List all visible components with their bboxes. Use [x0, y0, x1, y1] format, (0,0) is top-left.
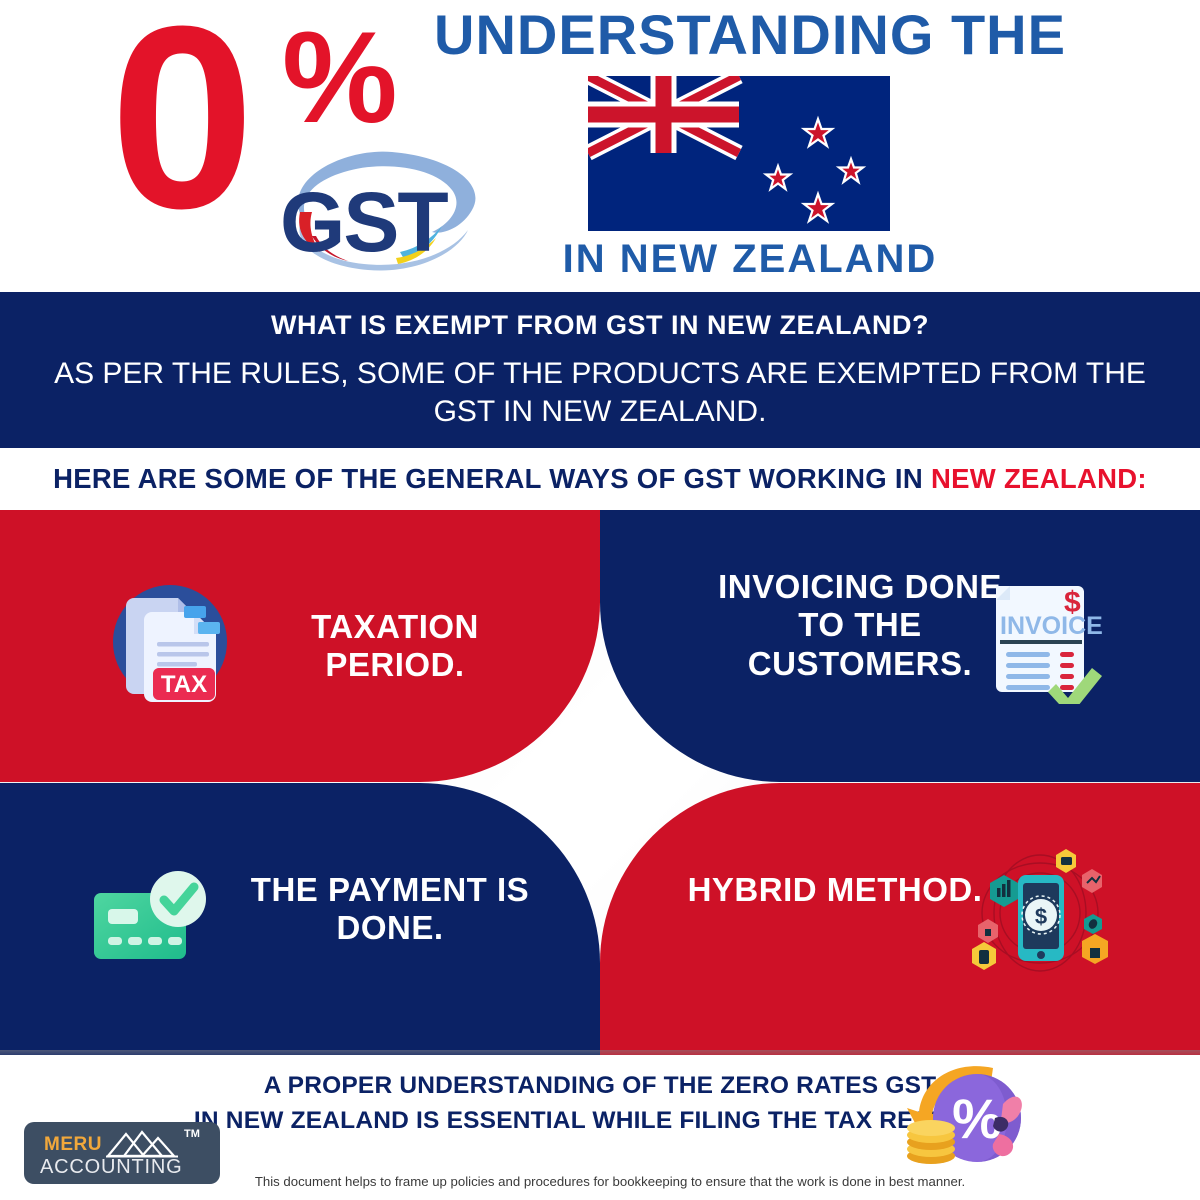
- page-title-line1: UNDERSTANDING THE: [400, 6, 1100, 65]
- flag-svg: [588, 76, 890, 231]
- quadrant-label-hybrid: HYBRID METHOD.: [685, 871, 985, 909]
- mountain-icon: [106, 1130, 178, 1158]
- invoice-check-icon: INVOICE $: [982, 572, 1112, 704]
- quadrant-payment-done[interactable]: THE PAYMENT IS DONE.: [0, 783, 600, 1055]
- quadrant-grid: TAX TAXATION PERIOD. INVOICING DONE TO T…: [0, 510, 1200, 1055]
- exempt-banner: WHAT IS EXEMPT FROM GST IN NEW ZEALAND? …: [0, 292, 1200, 448]
- quadrant-label-payment: THE PAYMENT IS DONE.: [240, 871, 540, 948]
- svg-text:%: %: [952, 1087, 1002, 1150]
- svg-text:TAX: TAX: [161, 671, 207, 698]
- header-section: 0 % GST UNDERSTANDING THE: [0, 0, 1200, 292]
- subhead-section: HERE ARE SOME OF THE GENERAL WAYS OF GST…: [0, 448, 1200, 510]
- banner-subtext: AS PER THE RULES, SOME OF THE PRODUCTS A…: [0, 355, 1200, 432]
- subhead-text: HERE ARE SOME OF THE GENERAL WAYS OF GST…: [53, 463, 1147, 495]
- footer-fineprint: This document helps to frame up policies…: [250, 1174, 970, 1189]
- svg-text:$: $: [1064, 586, 1081, 619]
- svg-text:INVOICE: INVOICE: [1000, 612, 1103, 640]
- subhead-prefix: HERE ARE SOME OF THE GENERAL WAYS OF GST…: [53, 463, 931, 494]
- credit-card-check-icon: [90, 861, 225, 981]
- mobile-payment-network-icon: $: [960, 831, 1120, 991]
- logo-name-top: MERU: [44, 1134, 102, 1156]
- quadrant-label-taxation: TAXATION PERIOD.: [255, 608, 535, 685]
- subhead-highlight: NEW ZEALAND:: [931, 463, 1147, 494]
- quadrant-label-invoicing: INVOICING DONE TO THE CUSTOMERS.: [715, 568, 1005, 683]
- meru-accounting-logo[interactable]: MERU ACCOUNTING TM: [24, 1122, 220, 1184]
- trademark-symbol: TM: [184, 1128, 200, 1140]
- svg-text:$: $: [1035, 904, 1047, 929]
- quadrant-invoicing[interactable]: INVOICING DONE TO THE CUSTOMERS. INVOICE…: [600, 510, 1200, 782]
- page-title-line2: IN NEW ZEALAND: [400, 237, 1100, 282]
- tax-document-icon: TAX: [100, 572, 240, 712]
- percent-coins-icon: %: [895, 1056, 1030, 1181]
- new-zealand-flag: [588, 76, 890, 231]
- infographic-page: 0 % GST UNDERSTANDING THE: [0, 0, 1200, 1200]
- banner-question: WHAT IS EXEMPT FROM GST IN NEW ZEALAND?: [0, 310, 1200, 341]
- percent-symbol: %: [282, 12, 398, 142]
- logo-name-bottom: ACCOUNTING: [40, 1156, 182, 1179]
- quadrant-hybrid-method[interactable]: HYBRID METHOD. $: [600, 783, 1200, 1055]
- quadrant-taxation-period[interactable]: TAX TAXATION PERIOD.: [0, 510, 600, 782]
- zero-digit: 0: [110, 0, 247, 248]
